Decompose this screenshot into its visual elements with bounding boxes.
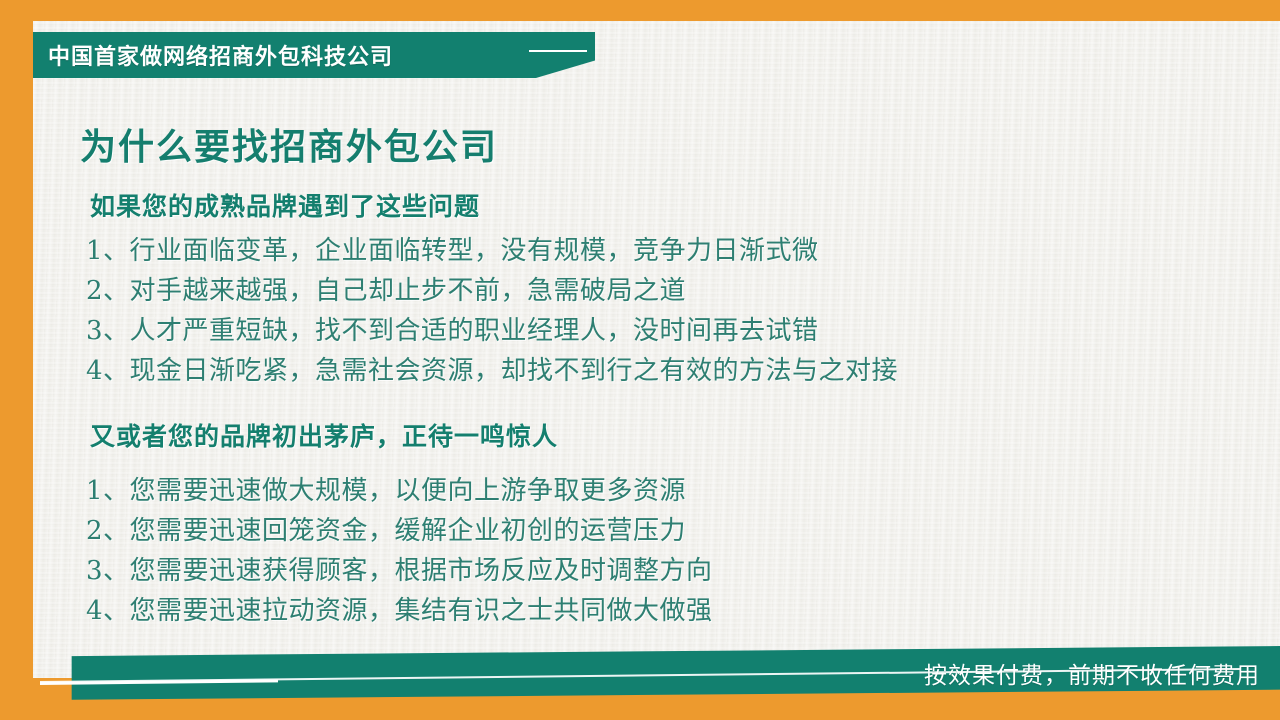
top-banner-label: 中国首家做网络招商外包科技公司 [48, 39, 393, 71]
list-item: 4、您需要迅速拉动资源，集结有识之士共同做大做强 [86, 591, 713, 631]
bottom-banner-label: 按效果付费，前期不收任何费用 [924, 656, 1260, 690]
list-item: 3、人才严重短缺，找不到合适的职业经理人，没时间再去试错 [86, 311, 898, 351]
section-heading-problems: 如果您的成熟品牌遇到了这些问题 [90, 187, 480, 223]
list-item: 1、您需要迅速做大规模，以便向上游争取更多资源 [86, 471, 713, 511]
top-banner-divider [529, 50, 587, 52]
list-item: 2、您需要迅速回笼资金，缓解企业初创的运营压力 [86, 511, 713, 551]
list-newbrand: 1、您需要迅速做大规模，以便向上游争取更多资源 2、您需要迅速回笼资金，缓解企业… [86, 471, 713, 631]
slide-root: 中国首家做网络招商外包科技公司 为什么要找招商外包公司 如果您的成熟品牌遇到了这… [0, 0, 1280, 720]
list-problems: 1、行业面临变革，企业面临转型，没有规模，竞争力日渐式微 2、对手越来越强，自己… [86, 231, 898, 391]
list-item: 2、对手越来越强，自己却止步不前，急需破局之道 [86, 271, 898, 311]
list-item: 1、行业面临变革，企业面临转型，没有规模，竞争力日渐式微 [86, 231, 898, 271]
top-banner: 中国首家做网络招商外包科技公司 [33, 32, 595, 78]
section-heading-newbrand: 又或者您的品牌初出茅庐，正待一鸣惊人 [90, 417, 558, 453]
list-item: 4、现金日渐吃紧，急需社会资源，却找不到行之有效的方法与之对接 [86, 351, 898, 391]
page-title: 为什么要找招商外包公司 [80, 118, 498, 170]
list-item: 3、您需要迅速获得顾客，根据市场反应及时调整方向 [86, 551, 713, 591]
